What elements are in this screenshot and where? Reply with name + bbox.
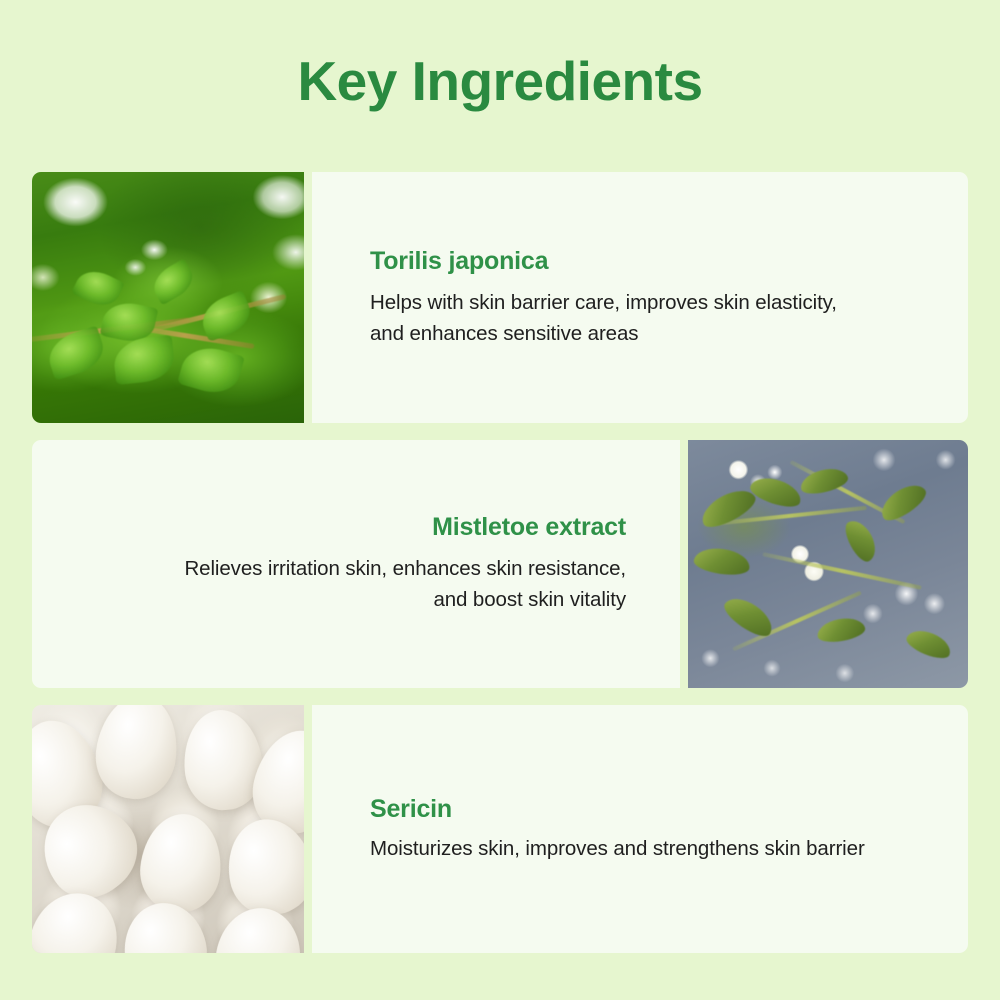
page-title: Key Ingredients xyxy=(0,50,1000,113)
torilis-japonica-text-panel: Torilis japonica Helps with skin barrier… xyxy=(312,172,968,423)
description-line: Relieves irritation skin, enhances skin … xyxy=(184,554,626,585)
ingredient-name: Torilis japonica xyxy=(370,246,548,277)
ingredient-card-mistletoe-extract: Mistletoe extract Relieves irritation sk… xyxy=(32,440,968,688)
description-line: and enhances sensitive areas xyxy=(370,319,837,350)
ingredient-name: Mistletoe extract xyxy=(432,512,626,543)
ingredient-description: Moisturizes skin, improves and strengthe… xyxy=(370,834,865,865)
ingredient-name: Sericin xyxy=(370,794,452,825)
ingredient-card-sericin: Sericin Moisturizes skin, improves and s… xyxy=(32,705,968,953)
mistletoe-berries-photo xyxy=(688,440,968,688)
torilis-japonica-photo xyxy=(32,172,304,423)
description-line: and boost skin vitality xyxy=(184,585,626,616)
ingredient-description: Relieves irritation skin, enhances skin … xyxy=(184,554,626,616)
silk-cocoons-photo xyxy=(32,705,304,953)
key-ingredients-page: Key Ingredients Torilis japonica Helps w… xyxy=(0,0,1000,1000)
sericin-text-panel: Sericin Moisturizes skin, improves and s… xyxy=(312,705,968,953)
mistletoe-extract-text-panel: Mistletoe extract Relieves irritation sk… xyxy=(32,440,680,688)
description-line: Helps with skin barrier care, improves s… xyxy=(370,288,837,319)
ingredient-card-torilis-japonica: Torilis japonica Helps with skin barrier… xyxy=(32,172,968,423)
ingredient-description: Helps with skin barrier care, improves s… xyxy=(370,288,837,350)
description-line: Moisturizes skin, improves and strengthe… xyxy=(370,834,865,865)
